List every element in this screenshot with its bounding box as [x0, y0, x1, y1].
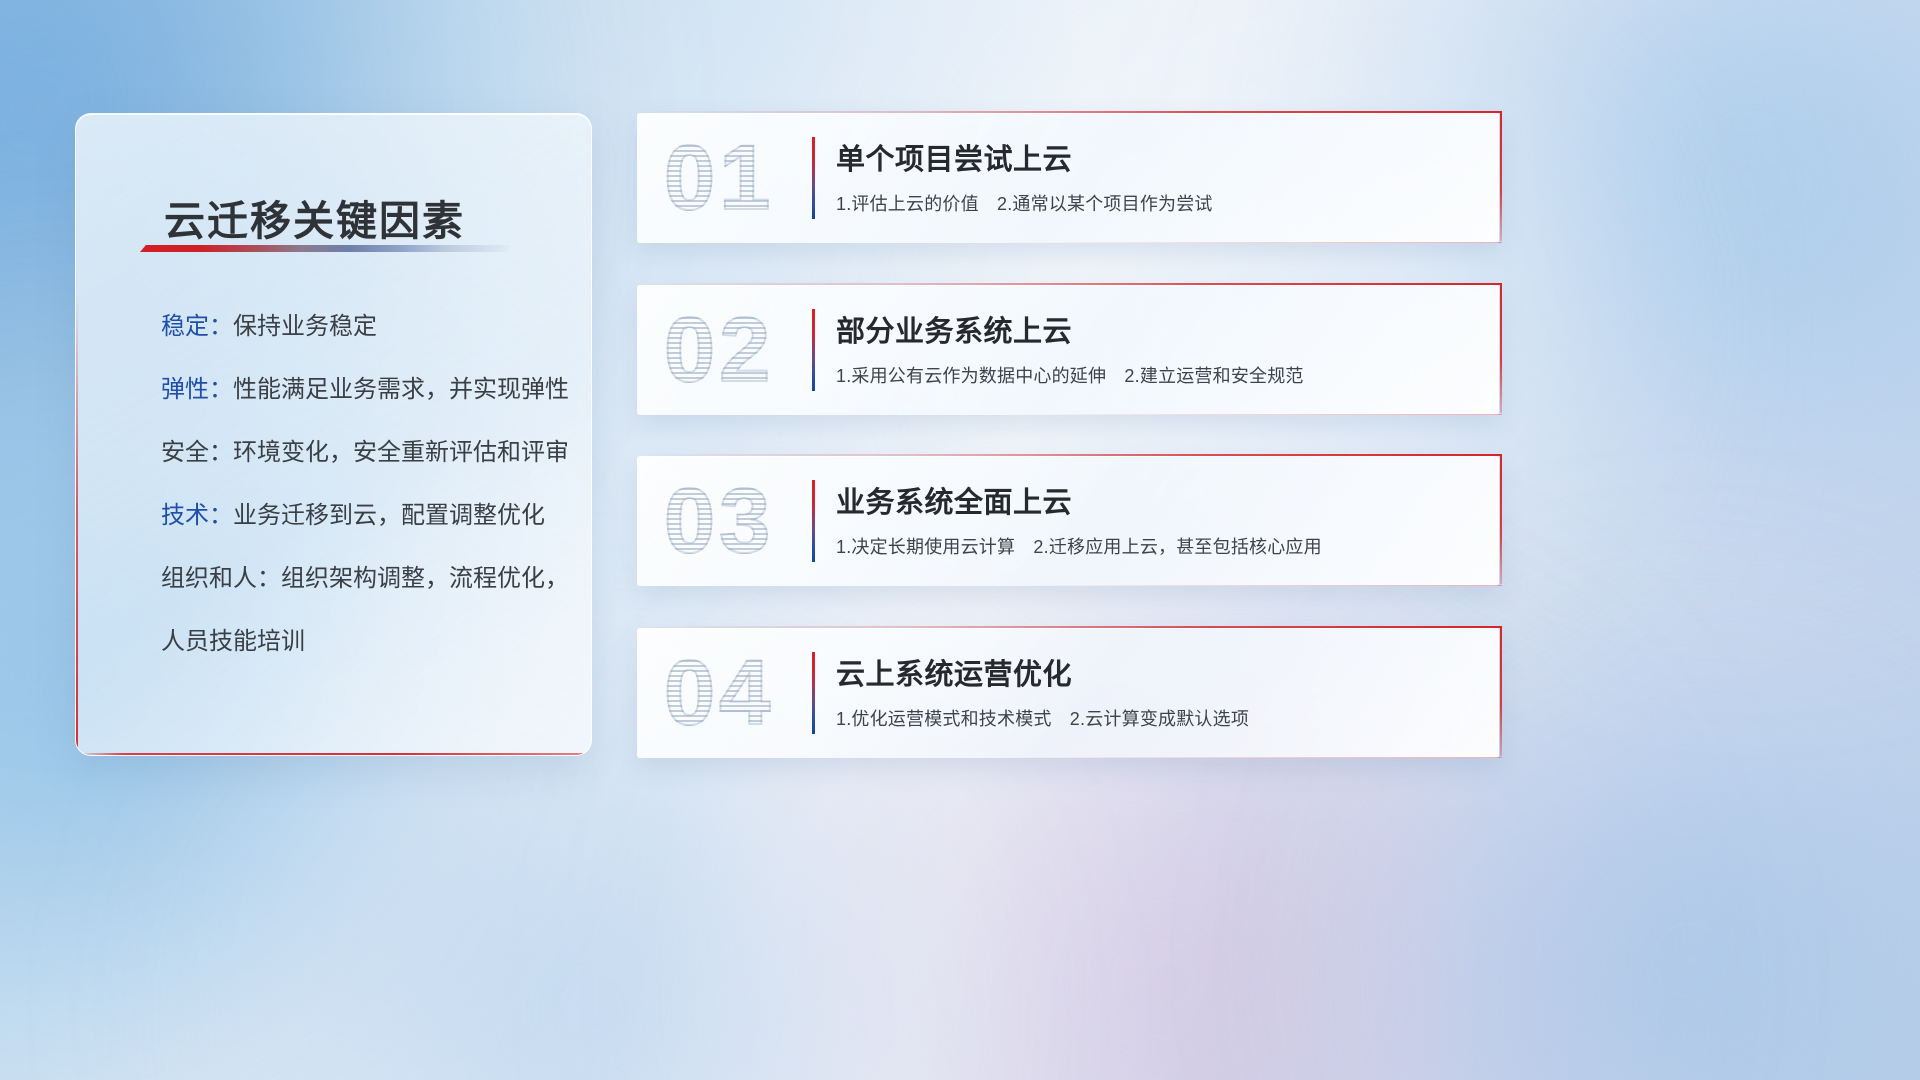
step-card[interactable]: 03业务系统全面上云1.决定长期使用云计算 2.迁移应用上云，甚至包括核心应用: [637, 456, 1499, 586]
factor-row: 组织和人：组织架构调整，流程优化，: [161, 564, 557, 594]
factor-value: 性能满足业务需求，并实现弹性: [233, 376, 569, 403]
factor-value: 人员技能培训: [161, 628, 305, 655]
factor-value: 业务迁移到云，配置调整优化: [233, 502, 545, 529]
factor-row: 安全：环境变化，安全重新评估和评审: [161, 438, 557, 468]
step-title: 业务系统全面上云: [836, 479, 1072, 521]
step-card[interactable]: 04云上系统运营优化1.优化运营模式和技术模式 2.云计算变成默认选项: [637, 628, 1499, 758]
step-title: 部分业务系统上云: [836, 308, 1072, 350]
factor-label: 技术：: [161, 502, 233, 529]
factor-label: 组织和人：: [161, 565, 281, 592]
step-title: 云上系统运营优化: [836, 651, 1072, 693]
panel-left-accent: [76, 293, 78, 755]
step-divider-bar: [812, 309, 815, 391]
step-card[interactable]: 01单个项目尝试上云1.评估上云的价值 2.通常以某个项目作为尝试: [637, 113, 1499, 243]
card-top-accent: [639, 283, 1502, 285]
key-factors-list: 稳定：保持业务稳定弹性：性能满足业务需求，并实现弹性安全：环境变化，安全重新评估…: [161, 312, 557, 657]
panel-bottom-accent: [76, 753, 591, 755]
step-card[interactable]: 02部分业务系统上云1.采用公有云作为数据中心的延伸 2.建立运营和安全规范: [637, 285, 1499, 415]
factor-label: 稳定：: [161, 313, 233, 340]
card-bottom-accent: [1002, 242, 1502, 243]
step-divider-bar: [812, 137, 815, 219]
step-description: 1.决定长期使用云计算 2.迁移应用上云，甚至包括核心应用: [836, 533, 1322, 559]
card-right-accent: [1500, 111, 1502, 241]
step-description: 1.优化运营模式和技术模式 2.云计算变成默认选项: [836, 705, 1249, 731]
factor-label: 安全：: [161, 439, 233, 466]
step-number: 04: [664, 634, 774, 752]
factor-value: 组织架构调整，流程优化，: [281, 565, 569, 592]
step-description: 1.评估上云的价值 2.通常以某个项目作为尝试: [836, 190, 1213, 216]
step-description: 1.采用公有云作为数据中心的延伸 2.建立运营和安全规范: [836, 362, 1304, 388]
card-bottom-accent: [1002, 585, 1502, 586]
factor-row: 技术：业务迁移到云，配置调整优化: [161, 501, 557, 531]
card-top-accent: [639, 626, 1502, 628]
factor-row: 弹性：性能满足业务需求，并实现弹性: [161, 375, 557, 405]
card-top-accent: [639, 454, 1502, 456]
step-number: 01: [664, 119, 774, 237]
card-right-accent: [1500, 454, 1502, 584]
title-underline-rule: [140, 245, 512, 252]
step-title: 单个项目尝试上云: [836, 136, 1072, 178]
card-bottom-accent: [1002, 757, 1502, 758]
card-right-accent: [1500, 283, 1502, 413]
factor-row: 人员技能培训: [161, 627, 557, 657]
slide-stage: 云迁移关键因素 稳定：保持业务稳定弹性：性能满足业务需求，并实现弹性安全：环境变…: [0, 0, 1920, 1080]
card-bottom-accent: [1002, 414, 1502, 415]
factor-value: 保持业务稳定: [233, 313, 377, 340]
step-divider-bar: [812, 652, 815, 734]
factor-row: 稳定：保持业务稳定: [161, 312, 557, 342]
factor-label: 弹性：: [161, 376, 233, 403]
card-right-accent: [1500, 626, 1502, 756]
card-top-accent: [639, 111, 1502, 113]
step-number: 02: [664, 291, 774, 409]
key-factors-panel: 云迁移关键因素 稳定：保持业务稳定弹性：性能满足业务需求，并实现弹性安全：环境变…: [75, 113, 592, 756]
step-number: 03: [664, 462, 774, 580]
factor-value: 环境变化，安全重新评估和评审: [233, 439, 569, 466]
page-title: 云迁移关键因素: [164, 187, 465, 247]
step-divider-bar: [812, 480, 815, 562]
